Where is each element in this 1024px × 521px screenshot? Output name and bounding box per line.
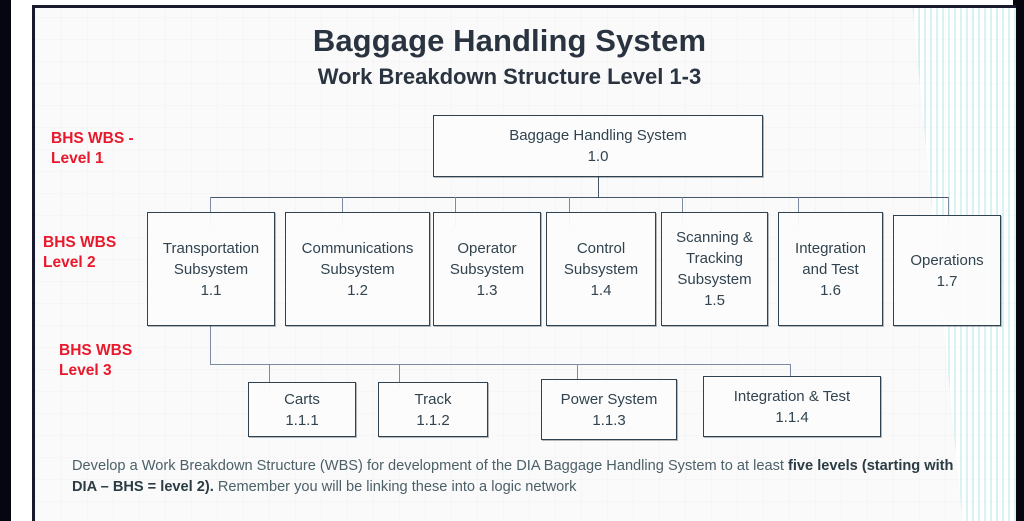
node-code: 1.1 bbox=[201, 280, 222, 301]
node-baggage-handling-system[interactable]: Baggage Handling System 1.0 bbox=[433, 115, 763, 177]
node-code: 1.6 bbox=[820, 280, 841, 301]
left-black-band bbox=[0, 0, 11, 521]
node-integration-and-test-113[interactable]: Integration & Test 1.1.4 bbox=[703, 376, 881, 437]
slide-canvas: Baggage Handling System Work Breakdown S… bbox=[0, 0, 1024, 521]
node-communications-subsystem[interactable]: Communications Subsystem 1.2 bbox=[285, 212, 430, 326]
node-code: 1.5 bbox=[704, 290, 725, 311]
node-operations[interactable]: Operations 1.7 bbox=[893, 215, 1001, 326]
node-control-subsystem[interactable]: Control Subsystem 1.4 bbox=[546, 212, 656, 326]
node-carts[interactable]: Carts 1.1.1 bbox=[248, 382, 356, 437]
caption-part-2: Remember you will be linking these into … bbox=[214, 479, 577, 495]
caption-text: Develop a Work Breakdown Structure (WBS)… bbox=[72, 456, 977, 497]
node-integration-and-test[interactable]: Integration and Test 1.6 bbox=[778, 212, 883, 326]
node-code: 1.2 bbox=[347, 280, 368, 301]
level-label-3: BHS WBS Level 3 bbox=[59, 341, 132, 381]
page-subtitle: Work Breakdown Structure Level 1-3 bbox=[35, 62, 984, 92]
node-title: Carts bbox=[284, 389, 320, 410]
title-block: Baggage Handling System Work Breakdown S… bbox=[35, 22, 984, 92]
node-code: 1.0 bbox=[588, 146, 609, 167]
node-title: Track bbox=[415, 389, 452, 410]
node-code: 1.1.1 bbox=[285, 410, 318, 431]
node-code: 1.3 bbox=[477, 280, 498, 301]
connector-transport-stem bbox=[210, 325, 211, 365]
node-title: Control Subsystem bbox=[564, 238, 638, 280]
page-title: Baggage Handling System bbox=[35, 22, 984, 60]
level-label-2: BHS WBS Level 2 bbox=[43, 233, 116, 273]
node-title: Transportation Subsystem bbox=[163, 238, 259, 280]
node-transportation-subsystem[interactable]: Transportation Subsystem 1.1 bbox=[147, 212, 275, 326]
node-scanning-tracking-subsystem[interactable]: Scanning & Tracking Subsystem 1.5 bbox=[661, 212, 768, 326]
connector-level2-bus bbox=[210, 197, 948, 198]
slide-face: Baggage Handling System Work Breakdown S… bbox=[32, 5, 1016, 521]
node-title: Integration and Test bbox=[795, 238, 866, 280]
node-track[interactable]: Track 1.1.2 bbox=[378, 382, 488, 437]
node-code: 1.1.4 bbox=[775, 407, 808, 428]
node-title: Scanning & Tracking Subsystem bbox=[676, 227, 753, 290]
level-label-1: BHS WBS - Level 1 bbox=[51, 129, 134, 169]
node-operator-subsystem[interactable]: Operator Subsystem 1.3 bbox=[433, 212, 541, 326]
node-title: Integration & Test bbox=[734, 386, 850, 407]
node-code: 1.1.3 bbox=[592, 410, 625, 431]
node-title: Communications Subsystem bbox=[302, 238, 414, 280]
node-title: Baggage Handling System bbox=[509, 125, 687, 146]
node-code: 1.4 bbox=[591, 280, 612, 301]
node-title: Power System bbox=[561, 389, 658, 410]
node-code: 1.7 bbox=[937, 271, 958, 292]
caption-part-1: Develop a Work Breakdown Structure (WBS)… bbox=[72, 458, 788, 474]
node-power-system[interactable]: Power System 1.1.3 bbox=[541, 379, 677, 440]
node-title: Operations bbox=[910, 250, 983, 271]
node-title: Operator Subsystem bbox=[450, 238, 524, 280]
connector-level3-bus bbox=[210, 364, 790, 365]
node-code: 1.1.2 bbox=[416, 410, 449, 431]
